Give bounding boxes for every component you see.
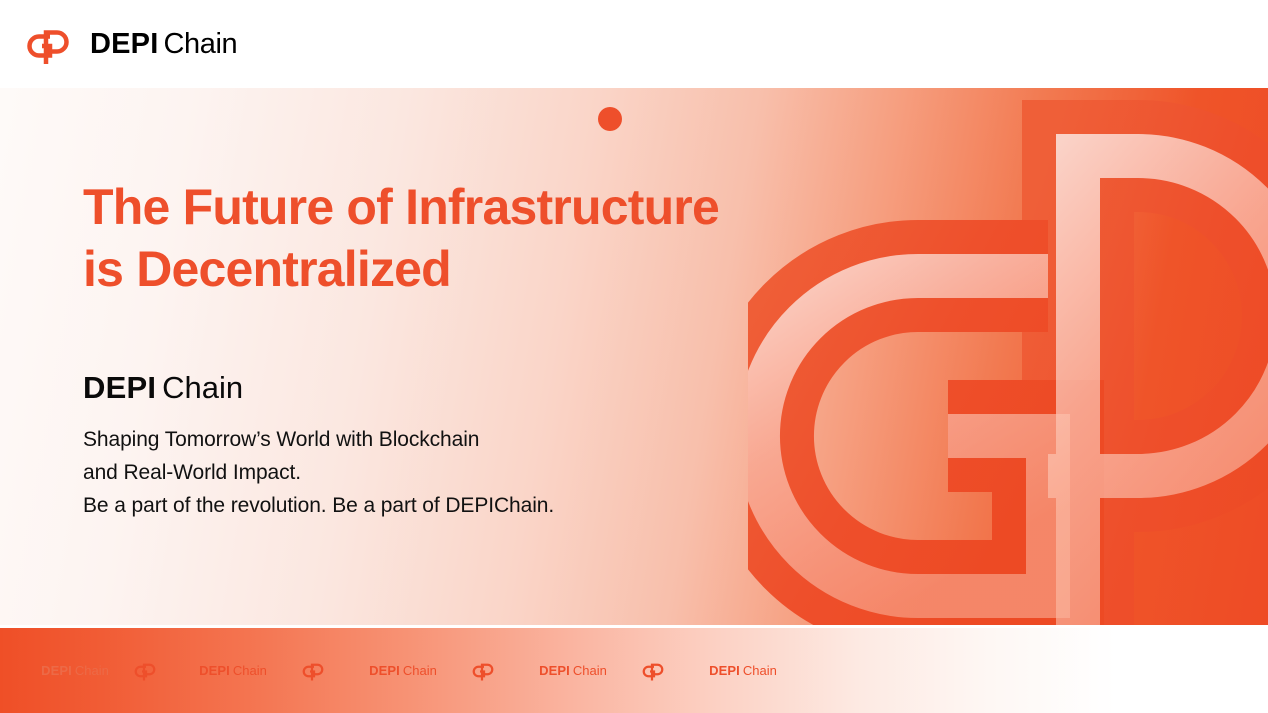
footer-logo-strip: DEPIChainDEPIChainDEPIChainDEPIChainDEPI… bbox=[0, 628, 1268, 713]
slide-root: DEPIChain bbox=[0, 0, 1268, 713]
hero-headline: The Future of Infrastructure is Decentra… bbox=[83, 88, 843, 300]
depi-chain-monogram-icon bbox=[22, 20, 74, 68]
footer-wordmark-strong: DEPI bbox=[539, 663, 570, 678]
hero-tagline: Shaping Tomorrow’s World with Blockchain… bbox=[83, 423, 843, 522]
hero-panel: The Future of Infrastructure is Decentra… bbox=[0, 88, 1268, 625]
footer-wordmark-strong: DEPI bbox=[41, 663, 72, 678]
footer-logo-word: DEPIChain bbox=[358, 628, 448, 713]
footer-wordmark: DEPIChain bbox=[41, 664, 109, 677]
header-brand-strong: DEPI bbox=[90, 28, 159, 60]
hero-sub-brand: DEPIChain bbox=[83, 372, 843, 403]
footer-logo-mark bbox=[466, 628, 500, 713]
footer-wordmark: DEPIChain bbox=[539, 664, 607, 677]
footer-wordmark-light: Chain bbox=[743, 663, 777, 678]
footer-wordmark: DEPIChain bbox=[369, 664, 437, 677]
footer-logo-mark bbox=[296, 628, 330, 713]
depi-chain-monogram-icon bbox=[470, 658, 496, 683]
footer-wordmark-light: Chain bbox=[75, 663, 109, 678]
footer-wordmark-strong: DEPI bbox=[369, 663, 400, 678]
footer-logo-mark bbox=[128, 628, 162, 713]
footer-wordmark-strong: DEPI bbox=[709, 663, 740, 678]
header-brand-light: Chain bbox=[164, 28, 238, 60]
footer-logo-word: DEPIChain bbox=[20, 628, 130, 713]
depi-chain-monogram-icon bbox=[640, 658, 666, 683]
footer-logo-word: DEPIChain bbox=[698, 628, 788, 713]
footer-wordmark-strong: DEPI bbox=[199, 663, 230, 678]
depi-chain-monogram-icon bbox=[132, 658, 158, 683]
footer-wordmark: DEPIChain bbox=[199, 664, 267, 677]
depi-chain-monogram-icon bbox=[300, 658, 326, 683]
footer-wordmark-light: Chain bbox=[233, 663, 267, 678]
header-brand-wordmark: DEPIChain bbox=[90, 30, 237, 59]
footer-logo-mark bbox=[636, 628, 670, 713]
footer-logo-word: DEPIChain bbox=[528, 628, 618, 713]
hero-copy: The Future of Infrastructure is Decentra… bbox=[83, 88, 843, 543]
hero-sub-brand-strong: DEPI bbox=[83, 370, 156, 405]
footer-logo-word: DEPIChain bbox=[188, 628, 278, 713]
footer-wordmark-light: Chain bbox=[403, 663, 437, 678]
header-brand-bar: DEPIChain bbox=[0, 0, 1268, 88]
hero-sub-brand-light: Chain bbox=[162, 370, 243, 405]
footer-wordmark-light: Chain bbox=[573, 663, 607, 678]
footer-wordmark: DEPIChain bbox=[709, 664, 777, 677]
